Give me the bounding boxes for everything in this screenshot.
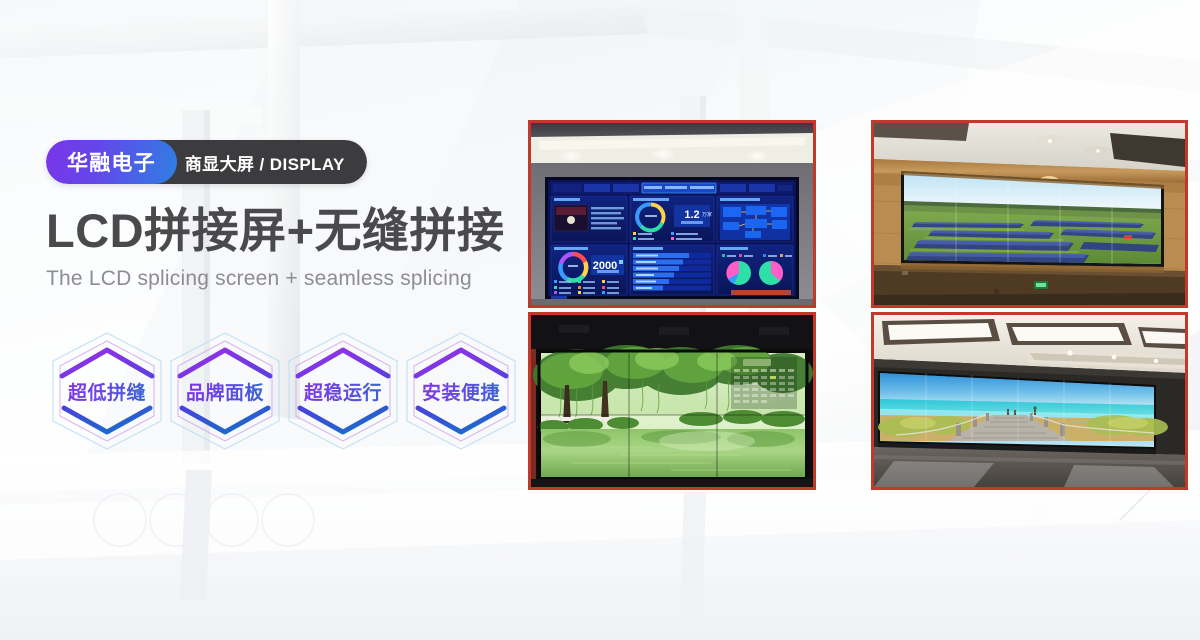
- headline-block: 华融电子 商显大屏 / DISPLAY LCD拼接屏+无缝拼接 The LCD …: [46, 140, 516, 291]
- brand-tag: 华融电子: [46, 140, 177, 184]
- feature-badge-label: 超低拼缝: [48, 330, 166, 452]
- feature-badge-4: 安装便捷: [402, 330, 520, 452]
- beach-videowall-illustration: [874, 315, 1185, 487]
- feature-badge-label: 品牌面板: [166, 330, 284, 452]
- page-subtitle: The LCD splicing screen + seamless splic…: [46, 267, 516, 291]
- svg-text:万家: 万家: [702, 211, 712, 218]
- product-photo-beach-videowall: [871, 312, 1188, 490]
- product-photo-solar-videowall: [871, 120, 1188, 308]
- solar-videowall-illustration: [874, 123, 1185, 305]
- dashboard-videowall-illustration: 1.2 万家: [531, 123, 813, 305]
- photo-artwork: 1.2 万家: [531, 123, 813, 305]
- feature-badge-row: 超低拼缝 品牌面板 超稳运行: [48, 330, 520, 452]
- category-tag: 商显大屏 / DISPLAY: [151, 140, 367, 184]
- photo-artwork: [531, 315, 813, 487]
- feature-badge-label: 超稳运行: [284, 330, 402, 452]
- page-title: LCD拼接屏+无缝拼接: [46, 206, 516, 257]
- product-photo-dashboard-videowall: 1.2 万家: [528, 120, 816, 308]
- feature-badge-label: 安装便捷: [402, 330, 520, 452]
- product-photo-landscape-videowall: [528, 312, 816, 490]
- promo-banner: 华融电子 商显大屏 / DISPLAY LCD拼接屏+无缝拼接 The LCD …: [0, 0, 1200, 640]
- photo-artwork: [874, 315, 1185, 487]
- svg-text:1.2: 1.2: [684, 209, 699, 221]
- brand-tag-row: 华融电子 商显大屏 / DISPLAY: [46, 140, 367, 184]
- feature-badge-3: 超稳运行: [284, 330, 402, 452]
- photo-artwork: [874, 123, 1185, 305]
- feature-badge-2: 品牌面板: [166, 330, 284, 452]
- landscape-videowall-illustration: [531, 315, 813, 487]
- feature-badge-1: 超低拼缝: [48, 330, 166, 452]
